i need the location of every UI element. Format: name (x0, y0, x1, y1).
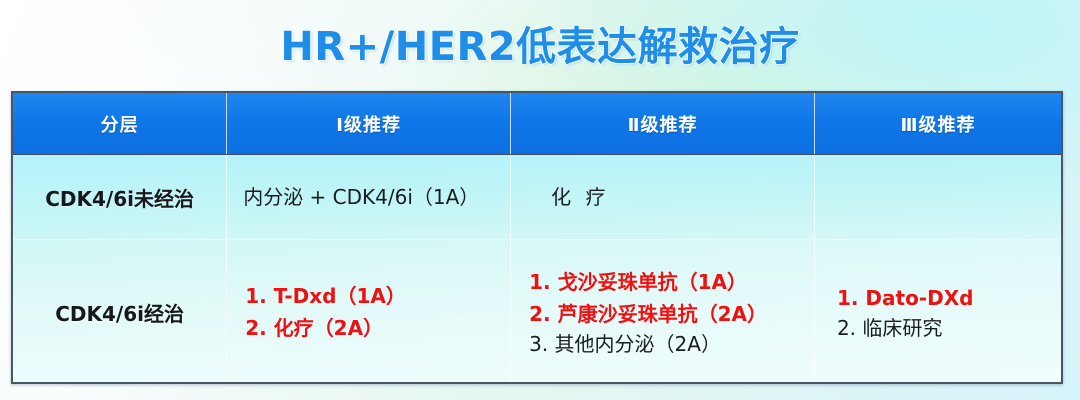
title-container: HR+/HER2低表达解救治疗 (0, 0, 1080, 86)
column-header-stratum: 分层 (13, 93, 226, 154)
recommendation-item: 1. 戈沙妥珠单抗（1A） (521, 266, 804, 298)
cell-level-1: 1. T-Dxd（1A） 2. 化疗（2A） (226, 240, 510, 384)
cell-level-1: 内分泌 + CDK4/6i（1A） (226, 155, 510, 239)
column-header-level-2: Ⅱ级推荐 (510, 93, 814, 154)
column-header-level-1: Ⅰ级推荐 (226, 93, 510, 154)
cell-stratum: CDK4/6i未经治 (13, 155, 226, 239)
recommendation-item: 2. 化疗（2A） (237, 312, 500, 344)
column-header-level-3: Ⅲ级推荐 (814, 93, 1061, 154)
recommendation-item: 3. 其他内分泌（2A） (521, 330, 804, 359)
table-header-row: 分层 Ⅰ级推荐 Ⅱ级推荐 Ⅲ级推荐 (13, 93, 1061, 155)
table-row: CDK4/6i经治 1. T-Dxd（1A） 2. 化疗（2A） 1. 戈沙妥珠… (13, 240, 1061, 384)
recommendation-item: 1. Dato-DXd (825, 282, 1051, 314)
cell-level-3 (814, 155, 1061, 239)
recommendation-item: 内分泌 + CDK4/6i（1A） (237, 183, 500, 212)
cell-level-2: 1. 戈沙妥珠单抗（1A） 2. 芦康沙妥珠单抗（2A） 3. 其他内分泌（2A… (510, 240, 814, 384)
recommendation-item: 2. 芦康沙妥珠单抗（2A） (521, 298, 804, 330)
recommendation-item: 1. T-Dxd（1A） (237, 280, 500, 312)
stratum-label: CDK4/6i经治 (23, 298, 216, 327)
recommendation-table: 分层 Ⅰ级推荐 Ⅱ级推荐 Ⅲ级推荐 CDK4/6i未经治 内分泌 + CDK4/… (11, 91, 1063, 384)
cell-level-2: 化 疗 (510, 155, 814, 239)
cell-level-3: 1. Dato-DXd 2. 临床研究 (814, 240, 1061, 384)
page-title: HR+/HER2低表达解救治疗 (280, 14, 799, 72)
recommendation-item: 2. 临床研究 (825, 314, 1051, 343)
recommendation-item: 化 疗 (521, 183, 804, 212)
stratum-label: CDK4/6i未经治 (23, 183, 216, 212)
cell-stratum: CDK4/6i经治 (13, 240, 226, 384)
table-row: CDK4/6i未经治 内分泌 + CDK4/6i（1A） 化 疗 (13, 155, 1061, 240)
slide-canvas: HR+/HER2低表达解救治疗 分层 Ⅰ级推荐 Ⅱ级推荐 Ⅲ级推荐 CDK4/6… (0, 0, 1080, 400)
